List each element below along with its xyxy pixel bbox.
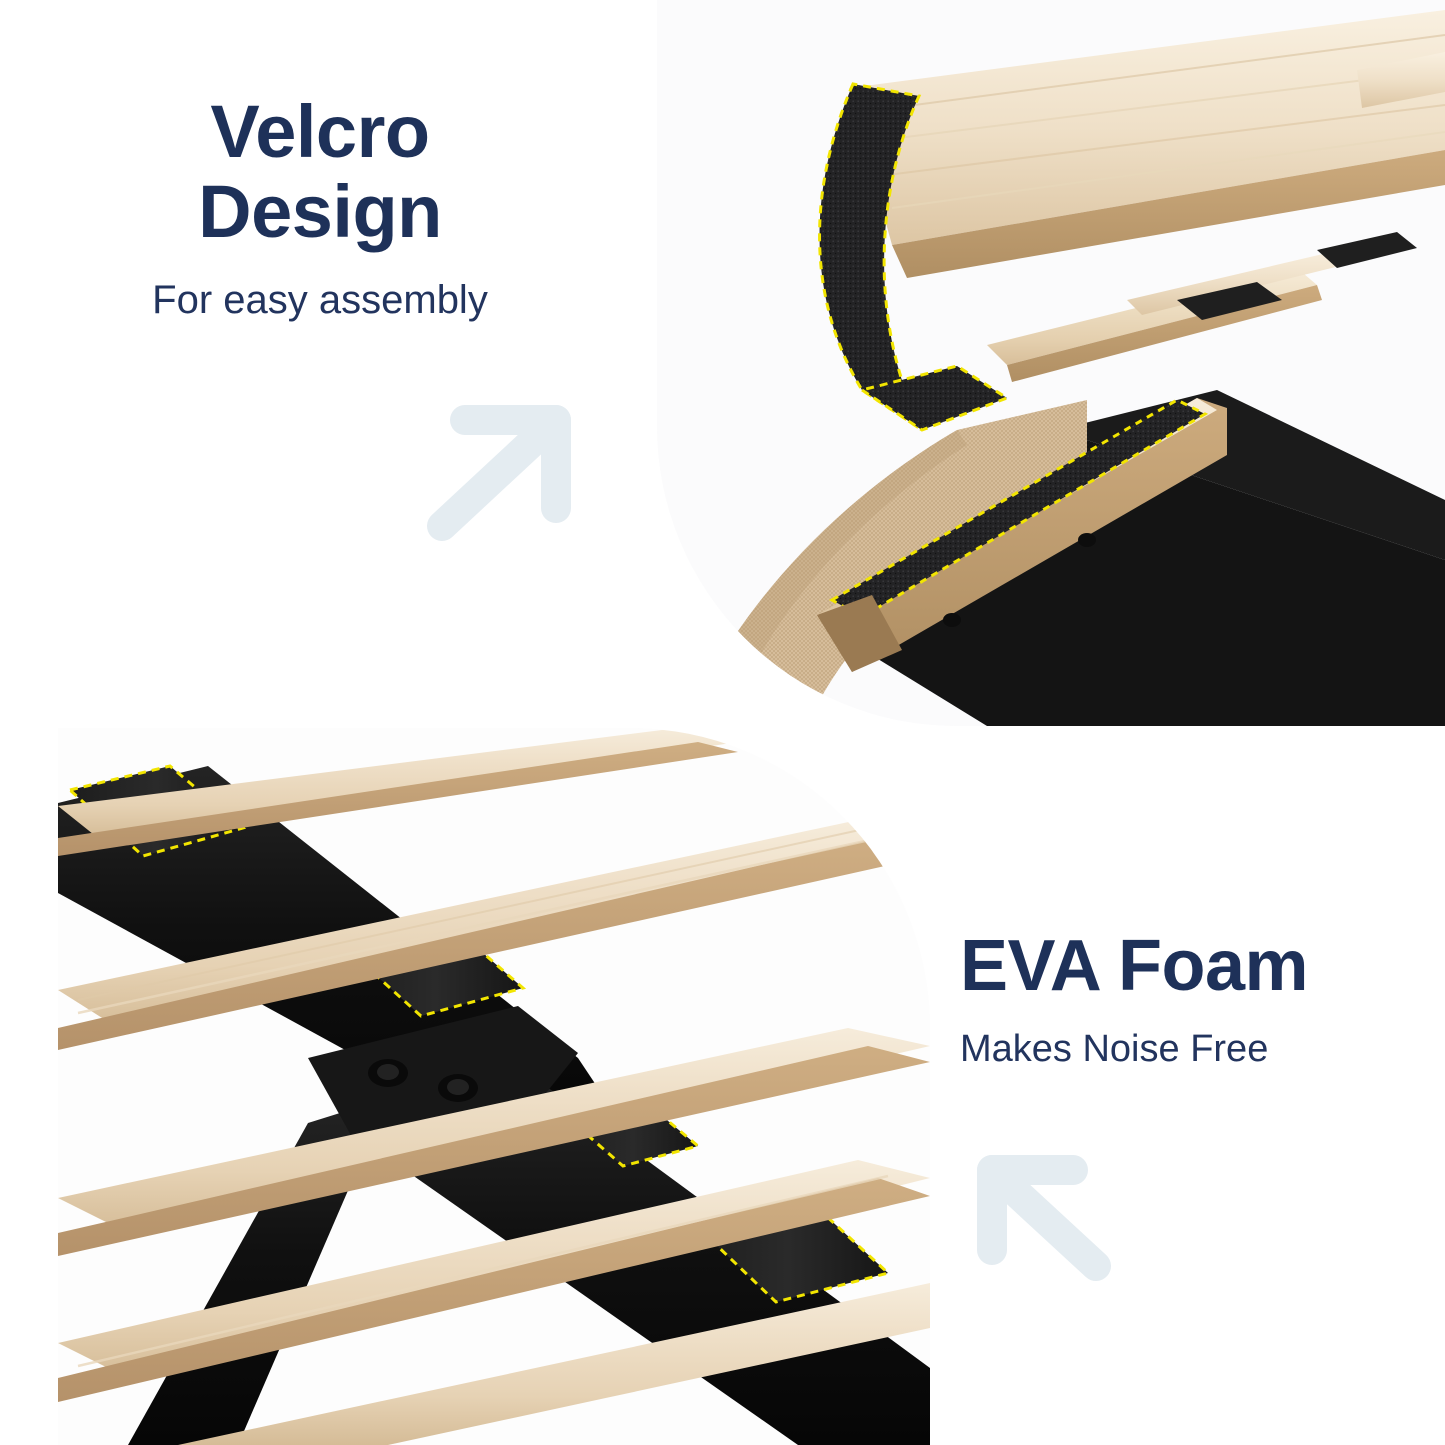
arrow-up-left-glyph <box>968 1148 1118 1288</box>
infographic-page: Velcro Design For easy assembly EVA Foam… <box>0 0 1445 1445</box>
eva-feature-text: EVA Foam Makes Noise Free <box>960 928 1410 1071</box>
velcro-photo-panel <box>657 0 1445 726</box>
velcro-feature-text: Velcro Design For easy assembly <box>60 92 580 323</box>
arrow-up-right-icon <box>420 398 590 548</box>
velcro-subtitle: For easy assembly <box>60 252 580 323</box>
eva-foam-photo-illustration <box>58 728 930 1445</box>
velcro-headline-line1: Velcro <box>60 92 580 172</box>
velcro-photo-illustration <box>657 0 1445 726</box>
velcro-headline-line2: Design <box>60 172 580 252</box>
arrow-up-left-icon <box>968 1148 1118 1288</box>
arrow-up-right-glyph <box>420 398 590 548</box>
eva-headline-line1: EVA Foam <box>960 928 1410 1006</box>
eva-subtitle: Makes Noise Free <box>960 1006 1410 1071</box>
eva-foam-photo-panel <box>58 728 930 1445</box>
